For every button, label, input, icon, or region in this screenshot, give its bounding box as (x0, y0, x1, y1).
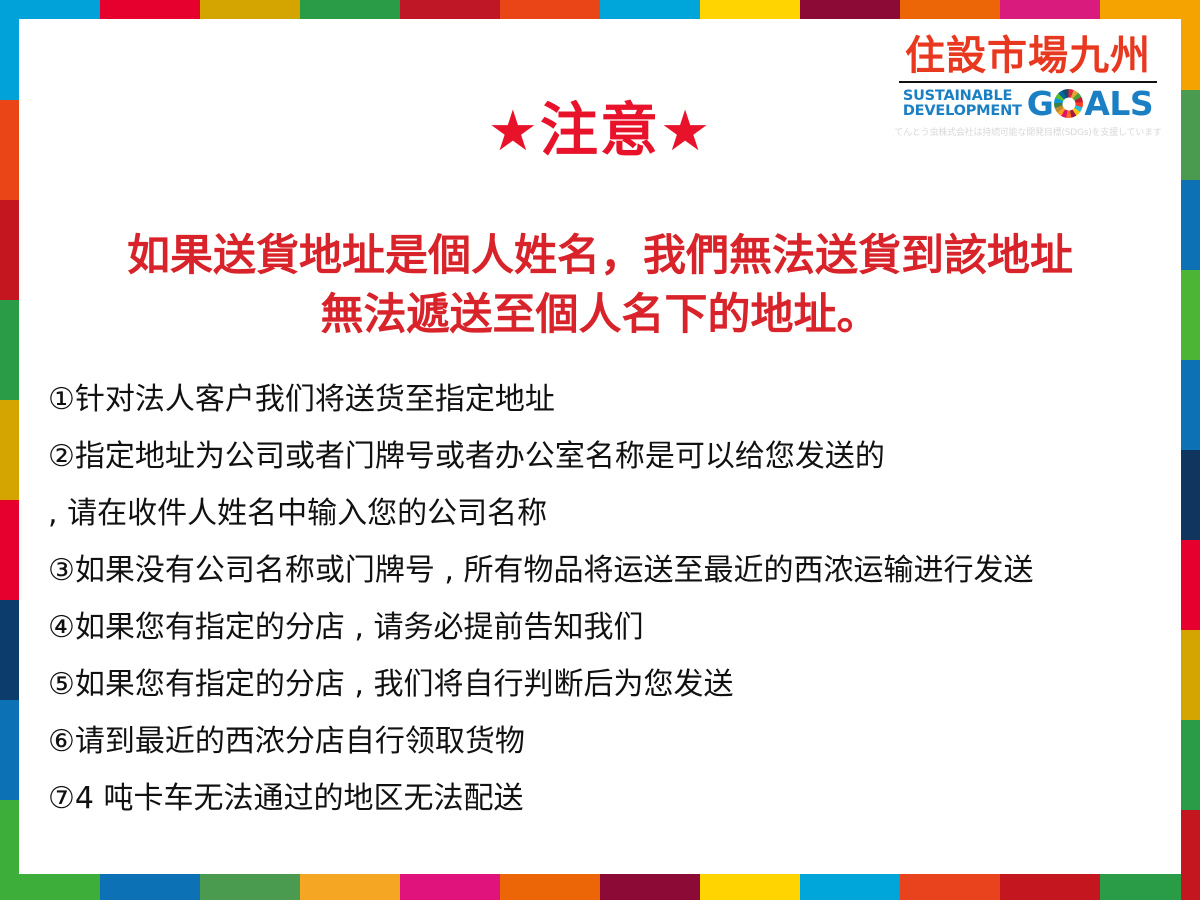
list-item: ⑦4 吨卡车无法通过的地区无法配送 (48, 770, 1169, 827)
list-item: ①针对法人客户我们将送货至指定地址 (48, 371, 1169, 428)
star-left-icon: ★ (488, 99, 540, 164)
border-color-cell (1181, 0, 1200, 90)
border-color-cell (500, 874, 600, 900)
border-color-cell (0, 100, 19, 200)
border-color-cell (400, 0, 500, 19)
border-color-cell (600, 874, 700, 900)
border-color-cell (400, 874, 500, 900)
star-right-icon: ★ (660, 99, 712, 164)
list-item: ⑥请到最近的西浓分店自行领取货物 (48, 713, 1169, 770)
border-color-cell (0, 700, 19, 800)
list-item: ⑤如果您有指定的分店 , 我们将自行判断后为您发送 (48, 656, 1169, 713)
border-color-cell (800, 874, 900, 900)
page-title: ★注意★ (19, 101, 1181, 160)
notice-list: ①针对法人客户我们将送货至指定地址 ②指定地址为公司或者门牌号或者办公室名称是可… (48, 371, 1169, 827)
warning-line-1: 如果送貨地址是個人姓名，我們無法送貨到該地址 (19, 231, 1181, 282)
content-panel: 住設市場九州 SUSTAINABLE DEVELOPMENT G ALS てんと… (19, 19, 1181, 874)
border-color-cell (300, 874, 400, 900)
border-color-cell (0, 400, 19, 500)
border-color-cell (1181, 810, 1200, 900)
warning-line-2: 無法遞送至個人名下的地址。 (19, 290, 1181, 341)
border-color-cell (100, 0, 200, 19)
border-color-cell (700, 0, 800, 19)
list-item: , 请在收件人姓名中输入您的公司名称 (48, 485, 1169, 542)
border-color-cell (0, 600, 19, 700)
border-color-cell (0, 800, 19, 900)
border-bottom (0, 874, 1200, 900)
page-title-text: 注意 (540, 96, 660, 164)
border-color-cell (0, 0, 19, 100)
border-color-cell (200, 874, 300, 900)
border-color-cell (1181, 180, 1200, 270)
list-item: ③如果没有公司名称或门牌号 , 所有物品将运送至最近的西浓运输进行发送 (48, 542, 1169, 599)
border-color-cell (900, 0, 1000, 19)
border-color-cell (1181, 90, 1200, 180)
border-color-cell (0, 300, 19, 400)
border-color-cell (1181, 720, 1200, 810)
border-color-cell (500, 0, 600, 19)
border-color-cell (900, 874, 1000, 900)
border-color-cell (1181, 630, 1200, 720)
border-left (0, 0, 19, 900)
border-color-cell (1181, 270, 1200, 360)
list-item: ④如果您有指定的分店 , 请务必提前告知我们 (48, 599, 1169, 656)
border-color-cell (1000, 0, 1100, 19)
border-color-cell (200, 0, 300, 19)
border-color-cell (1181, 540, 1200, 630)
logo-divider (899, 81, 1157, 83)
border-color-cell (700, 874, 800, 900)
border-color-cell (0, 200, 19, 300)
border-color-cell (1181, 450, 1200, 540)
border-top (0, 0, 1200, 19)
border-color-cell (100, 874, 200, 900)
company-name-jp: 住設市場九州 (895, 35, 1161, 78)
border-color-cell (300, 0, 400, 19)
border-color-cell (1000, 874, 1100, 900)
border-color-cell (800, 0, 900, 19)
border-color-cell (1181, 360, 1200, 450)
list-item: ②指定地址为公司或者门牌号或者办公室名称是可以给您发送的 (48, 428, 1169, 485)
border-color-cell (600, 0, 700, 19)
border-color-cell (0, 500, 19, 600)
notice-poster: 住設市場九州 SUSTAINABLE DEVELOPMENT G ALS てんと… (0, 0, 1200, 900)
border-right (1181, 0, 1200, 900)
